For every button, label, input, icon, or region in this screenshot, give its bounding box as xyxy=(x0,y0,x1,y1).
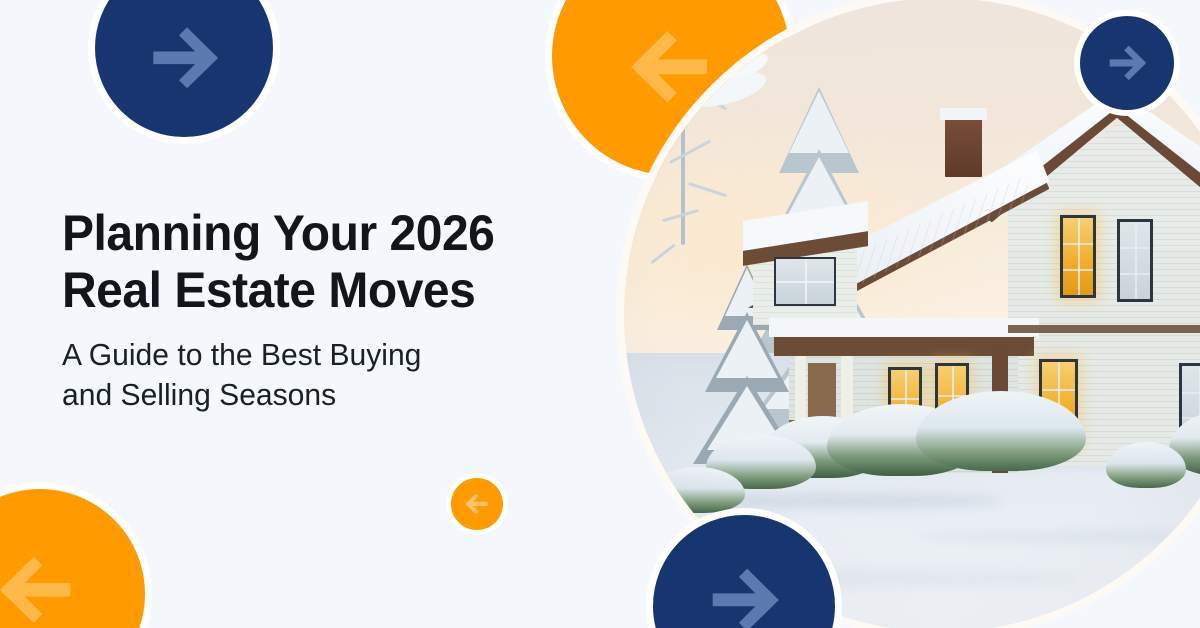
arrow-right-icon xyxy=(697,553,791,628)
arrow-left-icon xyxy=(0,540,87,628)
arrow-right-icon xyxy=(1101,37,1153,89)
arrow-right-icon xyxy=(138,12,230,104)
orange-circle-bottom-left xyxy=(0,482,152,628)
page-subtitle: A Guide to the Best Buying and Selling S… xyxy=(62,335,586,416)
banner-root: Planning Your 2026 Real Estate Moves A G… xyxy=(0,0,1200,628)
navy-circle-top-left xyxy=(88,0,280,144)
navy-circle-top-right xyxy=(1074,10,1180,116)
text-block: Planning Your 2026 Real Estate Moves A G… xyxy=(62,205,602,416)
page-title: Planning Your 2026 Real Estate Moves xyxy=(62,205,580,319)
orange-circle-small-center xyxy=(446,473,508,535)
arrow-left-icon xyxy=(461,488,493,520)
